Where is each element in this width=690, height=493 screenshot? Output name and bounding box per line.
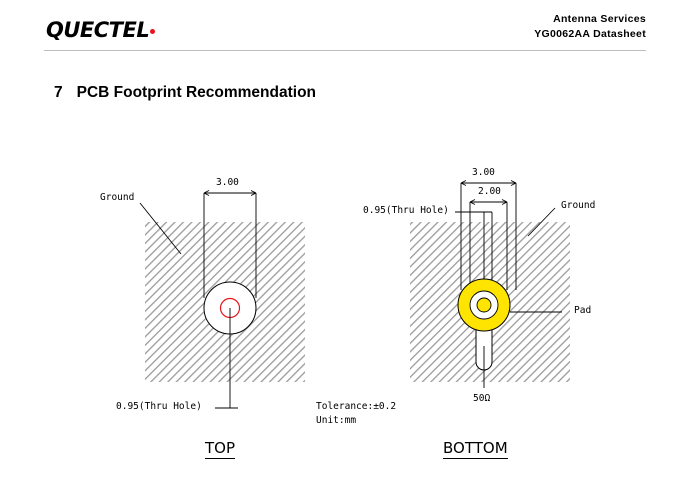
figure-notes: Tolerance:±0.2 Unit:mm xyxy=(316,400,396,428)
quectel-logo: QUECTEL xyxy=(46,18,155,42)
header-right-block: Antenna Services YG0062AA Datasheet xyxy=(534,12,646,42)
bottom-pad-label: Pad xyxy=(574,305,591,316)
section-title-text: PCB Footprint Recommendation xyxy=(77,84,316,101)
header-document-line: YG0062AA Datasheet xyxy=(534,27,646,42)
bottom-thru-hole-label: 0.95(Thru Hole) xyxy=(363,205,449,216)
datasheet-page: QUECTEL Antenna Services YG0062AA Datash… xyxy=(0,0,690,493)
logo-dot-icon xyxy=(150,29,155,34)
page-title: 7PCB Footprint Recommendation xyxy=(54,84,316,102)
header-divider xyxy=(44,50,646,51)
bottom-impedance-label: 50Ω xyxy=(473,393,490,404)
pcb-footprint-figure: Ground 3.00 0.95(Thru Hole) TOP Ground 3… xyxy=(0,150,690,480)
unit-note: Unit:mm xyxy=(316,414,396,428)
bottom-dimension-3mm-label: 3.00 xyxy=(472,167,495,178)
bottom-thru-hole-circle xyxy=(477,298,491,312)
top-thru-hole-label: 0.95(Thru Hole) xyxy=(116,401,202,412)
brand-text: QUECTEL xyxy=(46,18,149,42)
bottom-ground-label: Ground xyxy=(561,200,595,211)
top-ground-label: Ground xyxy=(100,192,134,203)
bottom-dimension-2mm-label: 2.00 xyxy=(478,186,501,197)
tolerance-note: Tolerance:±0.2 xyxy=(316,400,396,414)
section-number: 7 xyxy=(54,84,63,101)
top-view-caption: TOP xyxy=(205,439,235,459)
bottom-view-caption: BOTTOM xyxy=(443,439,508,459)
top-view-drawing xyxy=(140,191,305,409)
top-dimension-3mm-label: 3.00 xyxy=(216,177,239,188)
header-product-line: Antenna Services xyxy=(534,12,646,27)
